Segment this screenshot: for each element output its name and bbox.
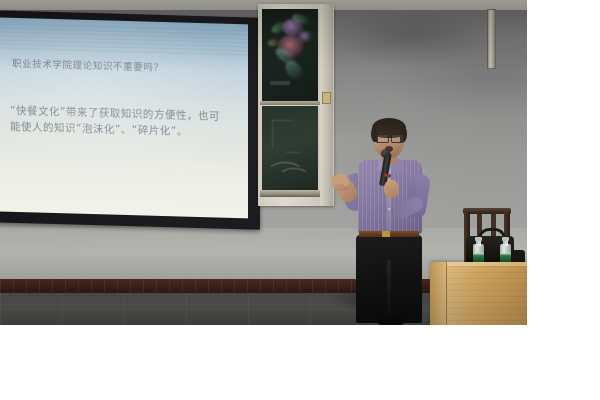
slide-body: “快餐文化”带来了获取知识的方便性，也可 能使人的知识“泡沫化”、“碎片化”。	[10, 104, 220, 141]
glasses-icon	[376, 134, 389, 143]
blackboard-lower-panel	[262, 106, 318, 191]
chalk-marks	[272, 120, 294, 121]
standing-presenter	[332, 118, 442, 325]
belt-buckle	[382, 231, 390, 237]
blackboard-latch	[322, 92, 331, 104]
trouser-crease	[387, 260, 391, 323]
finger	[343, 178, 350, 187]
screenshot-canvas: 职业技术学院理论知识不重要吗？ “快餐文化”带来了获取知识的方便性，也可 能使人…	[0, 0, 600, 400]
presenter-left-hand	[384, 180, 399, 198]
lecture-photograph: 职业技术学院理论知识不重要吗？ “快餐文化”带来了获取知识的方便性，也可 能使人…	[0, 0, 527, 325]
projection-screen: 职业技术学院理论知识不重要吗？ “快餐文化”带来了获取知识的方便性，也可 能使人…	[0, 10, 260, 229]
chalk-tray	[260, 190, 320, 197]
wall-light-strip	[487, 9, 496, 69]
shirt-button	[388, 208, 390, 210]
chalk-marks	[272, 120, 273, 148]
bottle-cap	[502, 237, 509, 241]
glasses-bridge	[387, 137, 391, 138]
wooden-podium	[430, 262, 527, 325]
chalk-marks	[286, 152, 300, 153]
projection-screen-surface: 职业技术学院理论知识不重要吗？ “快餐文化”带来了获取知识的方便性，也可 能使人…	[0, 17, 248, 218]
hanging-cable	[278, 168, 310, 188]
chalk-text	[270, 81, 290, 85]
glasses-icon	[391, 134, 404, 143]
presenter-right-hand	[332, 174, 350, 191]
bottle-cap	[475, 237, 482, 241]
blackboard	[258, 4, 334, 206]
slide-content: 职业技术学院理论知识不重要吗？ “快餐文化”带来了获取知识的方便性，也可 能使人…	[0, 17, 248, 218]
presenter-shoe	[378, 316, 404, 325]
podium-wood-grain	[446, 266, 527, 325]
blackboard-divider	[260, 101, 320, 105]
blackboard-upper-panel	[262, 9, 318, 101]
slide-title: 职业技术学院理论知识不重要吗？	[12, 56, 164, 74]
chalk-flower-bud	[298, 31, 312, 43]
